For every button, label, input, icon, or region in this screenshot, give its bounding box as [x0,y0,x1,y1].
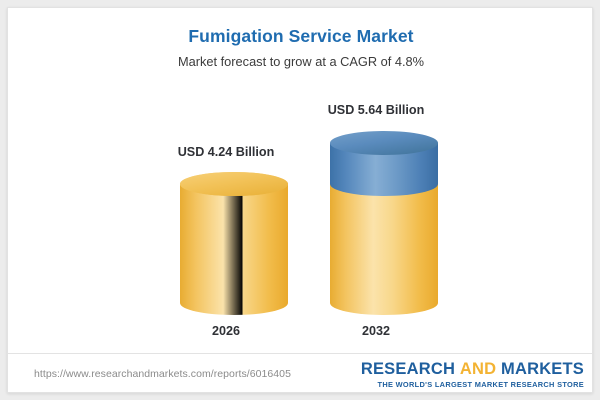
research-and-markets-logo[interactable]: RESEARCH AND MARKETS THE WORLD'S LARGEST… [361,361,584,389]
bar-segment-base-2032 [330,184,438,315]
logo-wordmark: RESEARCH AND MARKETS [361,361,584,378]
bar-value-label-2026: USD 4.24 Billion [136,145,316,159]
footer-divider [8,353,593,354]
bar-cylinder-2032[interactable] [324,124,444,326]
category-label-2032: 2032 [286,324,466,338]
chart-plot-area: USD 4.24 Billion [8,8,593,348]
screenshot-canvas: Fumigation Service Market Market forecas… [0,0,600,400]
logo-word-and: AND [460,360,496,378]
bar-value-label-2032: USD 5.64 Billion [286,103,466,117]
logo-word-research: RESEARCH [361,360,455,378]
bar-cylinder-2026[interactable] [174,166,294,326]
chart-card: Fumigation Service Market Market forecas… [7,7,593,393]
logo-word-markets: MARKETS [501,360,584,378]
logo-tagline: THE WORLD'S LARGEST MARKET RESEARCH STOR… [361,380,584,389]
report-url-link[interactable]: https://www.researchandmarkets.com/repor… [34,368,291,380]
